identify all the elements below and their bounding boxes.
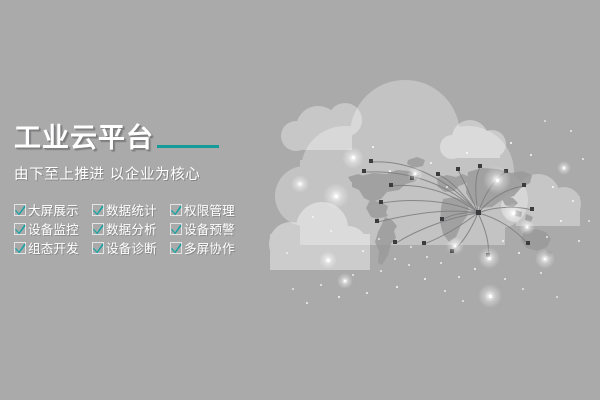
feature-item[interactable]: 组态开发 (14, 238, 92, 257)
check-icon (92, 223, 104, 235)
check-icon (92, 242, 104, 254)
feature-label: 设备预警 (184, 219, 235, 238)
page-title: 工业云平台 (14, 124, 154, 154)
check-icon (170, 223, 182, 235)
check-icon (170, 204, 182, 216)
check-icon (170, 242, 182, 254)
feature-label: 组态开发 (28, 238, 79, 257)
cloud-platform-banner: 工业云平台 由下至上推进 以企业为核心 大屏展示 数据统计 (0, 0, 600, 400)
feature-item[interactable]: 数据统计 (92, 200, 170, 219)
headline-block: 工业云平台 由下至上推进 以企业为核心 大屏展示 数据统计 (14, 118, 274, 257)
page-subtitle: 由下至上推进 以企业为核心 (14, 163, 274, 184)
feature-label: 设备诊断 (106, 238, 157, 257)
check-icon (14, 223, 26, 235)
feature-label: 权限管理 (184, 200, 235, 219)
feature-item[interactable]: 设备预警 (170, 219, 250, 238)
check-icon (14, 204, 26, 216)
feature-item[interactable]: 设备监控 (14, 219, 92, 238)
feature-item[interactable]: 设备诊断 (92, 238, 170, 257)
title-underline-rule (157, 145, 219, 148)
feature-label: 大屏展示 (28, 200, 79, 219)
title-row: 工业云平台 (14, 118, 274, 154)
feature-item[interactable]: 权限管理 (170, 200, 250, 219)
feature-label: 数据统计 (106, 200, 157, 219)
feature-item[interactable]: 多屏协作 (170, 238, 250, 257)
feature-item[interactable]: 大屏展示 (14, 200, 92, 219)
feature-item[interactable]: 数据分析 (92, 219, 170, 238)
feature-list: 大屏展示 数据统计 权限管理 (14, 200, 274, 257)
check-icon (92, 204, 104, 216)
feature-label: 多屏协作 (184, 238, 235, 257)
check-icon (14, 242, 26, 254)
feature-label: 设备监控 (28, 219, 79, 238)
feature-label: 数据分析 (106, 219, 157, 238)
